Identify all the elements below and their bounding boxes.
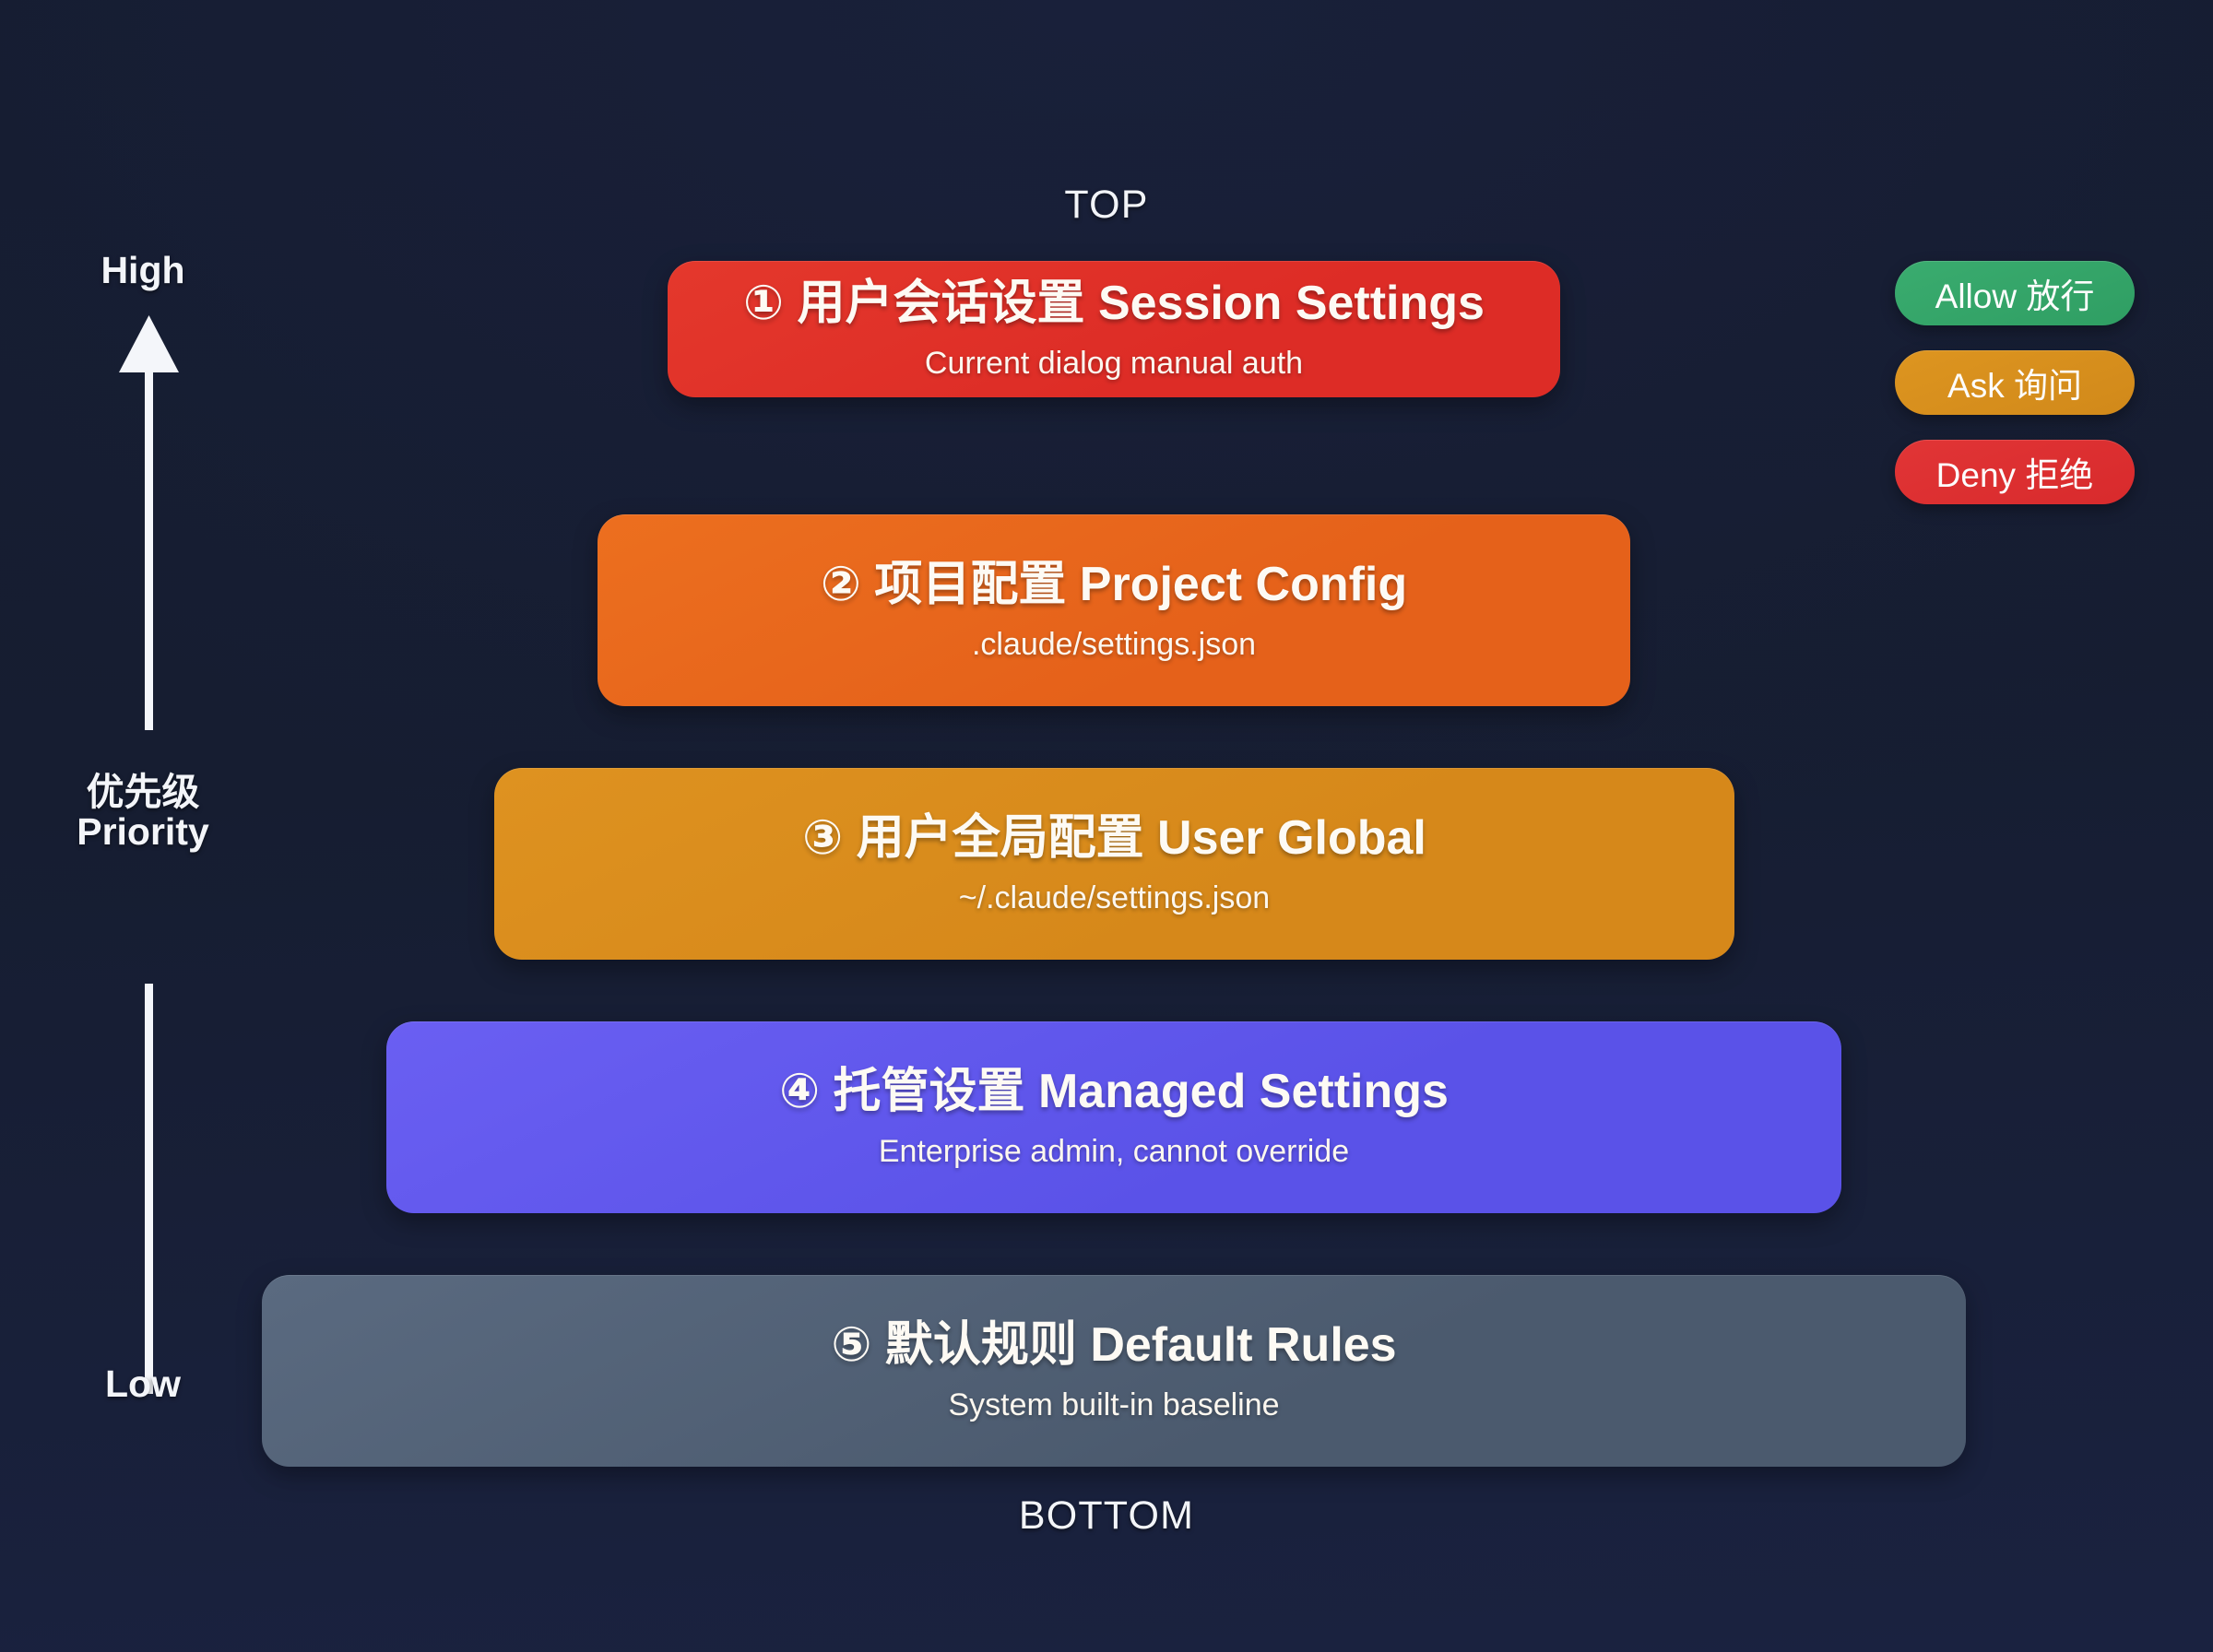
pyramid-layer-title: ③ 用户全局配置 User Global (802, 812, 1426, 865)
legend-badge-2[interactable]: Ask 询问 (1895, 350, 2135, 415)
legend-badge-label: Deny 拒绝 (1936, 447, 2094, 497)
pyramid-layer-5[interactable]: ⑤ 默认规则 Default RulesSystem built-in base… (262, 1275, 1966, 1467)
legend-badge-label: Ask 询问 (1947, 358, 2082, 407)
pyramid-layer-subtitle: Current dialog manual auth (925, 347, 1303, 381)
permission-legend: Allow 放行Ask 询问Deny 拒绝 (1895, 261, 2135, 529)
legend-badge-3[interactable]: Deny 拒绝 (1895, 440, 2135, 504)
pyramid-layer-title: ⑤ 默认规则 Default Rules (831, 1319, 1396, 1372)
pyramid-layer-subtitle: .claude/settings.json (972, 628, 1256, 662)
legend-badge-1[interactable]: Allow 放行 (1895, 261, 2135, 325)
pyramid-layer-subtitle: System built-in baseline (948, 1388, 1279, 1422)
bottom-caption: BOTTOM (0, 1493, 2213, 1539)
pyramid-layer-title: ② 项目配置 Project Config (821, 559, 1407, 611)
pyramid-layer-subtitle: Enterprise admin, cannot override (879, 1135, 1349, 1169)
pyramid-layer-title: ④ 托管设置 Managed Settings (779, 1066, 1449, 1118)
pyramid-layer-2[interactable]: ② 项目配置 Project Config.claude/settings.js… (598, 514, 1630, 706)
legend-badge-label: Allow 放行 (1935, 268, 2095, 318)
pyramid-layers: ① 用户会话设置 Session SettingsCurrent dialog … (0, 0, 2213, 1652)
pyramid-layer-title: ① 用户会话设置 Session Settings (743, 277, 1485, 330)
pyramid-layer-1[interactable]: ① 用户会话设置 Session SettingsCurrent dialog … (668, 261, 1560, 397)
pyramid-layer-3[interactable]: ③ 用户全局配置 User Global~/.claude/settings.j… (494, 768, 1734, 960)
priority-pyramid-diagram: TOP High 优先级 Priority Low ① 用户会话设置 Sessi… (0, 0, 2213, 1652)
pyramid-layer-subtitle: ~/.claude/settings.json (959, 881, 1270, 915)
pyramid-layer-4[interactable]: ④ 托管设置 Managed SettingsEnterprise admin,… (386, 1021, 1841, 1213)
